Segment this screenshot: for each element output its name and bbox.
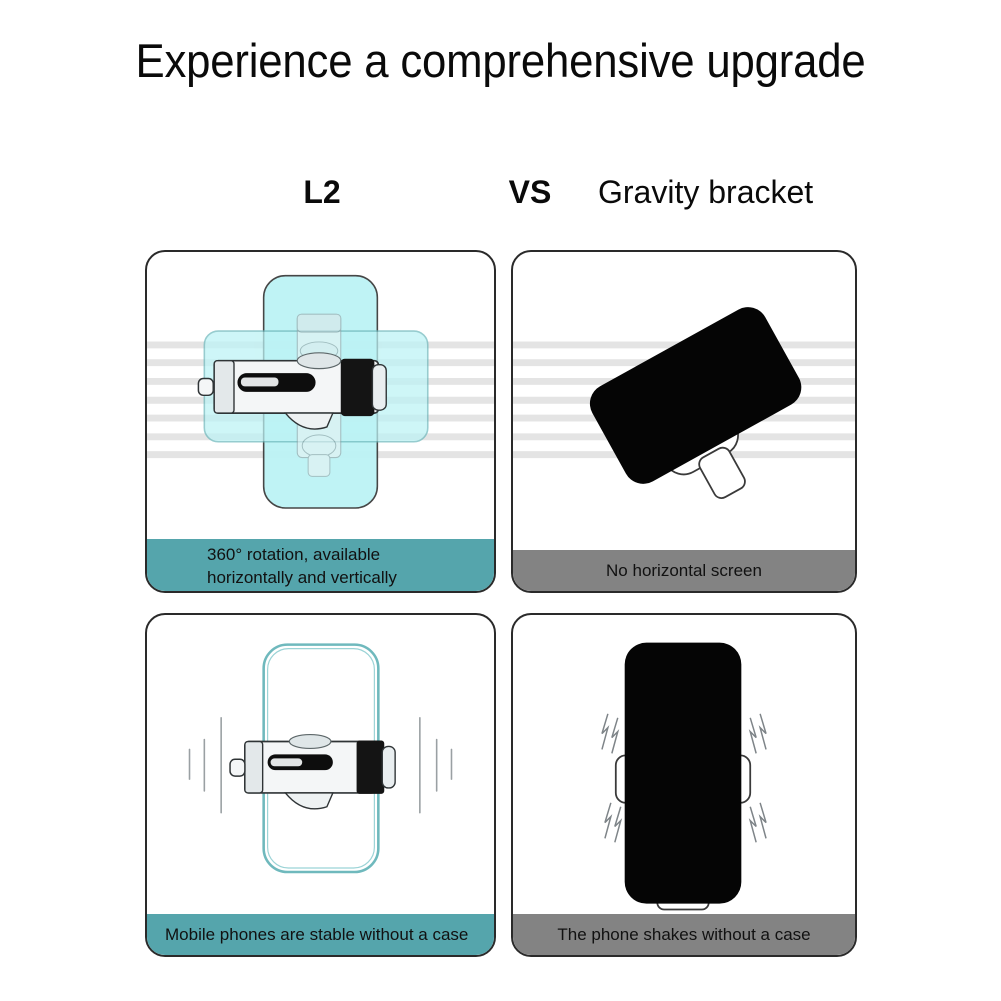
illustration-phone-stable-in-l2-mount (147, 615, 494, 955)
illustration-tilted-phone-in-gravity-bracket (513, 252, 855, 591)
stability-marks-left (190, 718, 222, 813)
comparison-card-competitor-shakes: The phone shakes without a case (511, 613, 857, 957)
competitor-label: Gravity bracket (598, 172, 813, 212)
tilted-phone-illustration-svg (513, 252, 855, 591)
shake-marks-right (750, 714, 766, 842)
card-caption: 360° rotation, available horizontally an… (147, 539, 494, 591)
comparison-header: L2 VS Gravity bracket (0, 172, 1001, 216)
stable-phone-illustration-svg (147, 615, 494, 955)
comparison-card-product-stable: Mobile phones are stable without a case (145, 613, 496, 957)
caption-line-1: 360° rotation, available (207, 543, 494, 566)
stability-marks-right (420, 718, 452, 813)
card-caption: No horizontal screen (513, 550, 855, 591)
mount-knob (341, 359, 375, 416)
card-caption: The phone shakes without a case (513, 914, 855, 955)
comparison-card-competitor-no-landscape: No horizontal screen (511, 250, 857, 593)
mount-knob (357, 741, 385, 794)
illustration-black-phone-shaking (513, 615, 855, 955)
phone-black (625, 643, 742, 904)
card-caption: Mobile phones are stable without a case (147, 914, 494, 955)
comparison-card-product-rotation: 360° rotation, available horizontally an… (145, 250, 496, 593)
product-label: L2 (262, 172, 382, 212)
page-title: Experience a comprehensive upgrade (35, 33, 966, 89)
versus-label: VS (480, 172, 580, 212)
caption-line-2: horizontally and vertically (207, 566, 494, 589)
shaking-phone-illustration-svg (513, 615, 855, 955)
